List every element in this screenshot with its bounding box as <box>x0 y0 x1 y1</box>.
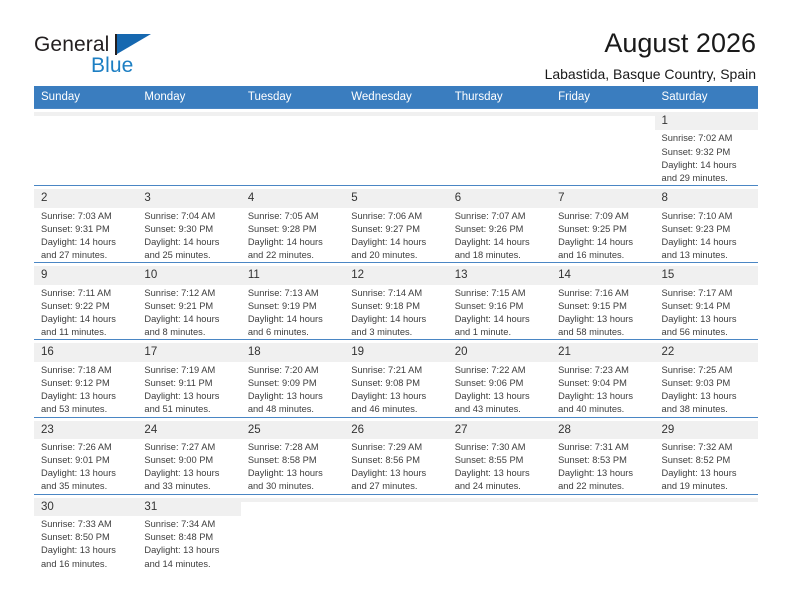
calendar-cell-empty <box>34 109 137 186</box>
sunset-text: Sunset: 9:15 PM <box>558 300 649 313</box>
calendar-cell-empty <box>448 494 551 571</box>
day-cell-inner: 24Sunrise: 7:27 AMSunset: 9:00 PMDayligh… <box>137 418 240 494</box>
day-cell-inner: 8Sunrise: 7:10 AMSunset: 9:23 PMDaylight… <box>655 186 758 262</box>
day-cell-inner <box>344 495 447 571</box>
calendar-cell-empty <box>241 494 344 571</box>
calendar-header-row: Sunday Monday Tuesday Wednesday Thursday… <box>34 86 758 109</box>
sunrise-text: Sunrise: 7:15 AM <box>455 287 546 300</box>
day-cell-inner <box>241 109 344 185</box>
weekday-header-thursday: Thursday <box>448 86 551 109</box>
day-details: Sunrise: 7:11 AMSunset: 9:22 PMDaylight:… <box>41 285 132 340</box>
daylight-text-line2: and 3 minutes. <box>351 326 442 339</box>
daylight-text-line1: Daylight: 13 hours <box>558 467 649 480</box>
day-details: Sunrise: 7:21 AMSunset: 9:08 PMDaylight:… <box>351 362 442 417</box>
calendar-day-cell[interactable]: 8Sunrise: 7:10 AMSunset: 9:23 PMDaylight… <box>655 186 758 263</box>
daylight-text-line2: and 16 minutes. <box>558 249 649 262</box>
daylight-text-line1: Daylight: 13 hours <box>662 390 753 403</box>
daylight-text-line1: Daylight: 14 hours <box>455 236 546 249</box>
calendar-body: 1Sunrise: 7:02 AMSunset: 9:32 PMDaylight… <box>34 109 758 571</box>
day-cell-inner: 9Sunrise: 7:11 AMSunset: 9:22 PMDaylight… <box>34 263 137 339</box>
day-number: 28 <box>551 421 654 439</box>
calendar-day-cell[interactable]: 28Sunrise: 7:31 AMSunset: 8:53 PMDayligh… <box>551 417 654 494</box>
day-details: Sunrise: 7:12 AMSunset: 9:21 PMDaylight:… <box>144 285 235 340</box>
day-number <box>655 498 758 502</box>
calendar-day-cell[interactable]: 20Sunrise: 7:22 AMSunset: 9:06 PMDayligh… <box>448 340 551 417</box>
calendar-cell-empty <box>448 109 551 186</box>
sunrise-text: Sunrise: 7:05 AM <box>248 210 339 223</box>
day-details: Sunrise: 7:09 AMSunset: 9:25 PMDaylight:… <box>558 208 649 263</box>
day-details: Sunrise: 7:19 AMSunset: 9:11 PMDaylight:… <box>144 362 235 417</box>
daylight-text-line1: Daylight: 13 hours <box>41 544 132 557</box>
weekday-header-monday: Monday <box>137 86 240 109</box>
daylight-text-line1: Daylight: 13 hours <box>455 467 546 480</box>
brand-word-blue: Blue <box>91 55 133 76</box>
daylight-text-line2: and 56 minutes. <box>662 326 753 339</box>
day-number: 26 <box>344 421 447 439</box>
daylight-text-line2: and 18 minutes. <box>455 249 546 262</box>
day-number: 23 <box>34 421 137 439</box>
sunset-text: Sunset: 9:23 PM <box>662 223 753 236</box>
daylight-text-line2: and 6 minutes. <box>248 326 339 339</box>
day-cell-inner <box>137 109 240 185</box>
day-cell-inner: 10Sunrise: 7:12 AMSunset: 9:21 PMDayligh… <box>137 263 240 339</box>
day-number: 1 <box>655 112 758 130</box>
day-details: Sunrise: 7:30 AMSunset: 8:55 PMDaylight:… <box>455 439 546 494</box>
calendar-day-cell[interactable]: 29Sunrise: 7:32 AMSunset: 8:52 PMDayligh… <box>655 417 758 494</box>
daylight-text-line1: Daylight: 14 hours <box>248 236 339 249</box>
sunset-text: Sunset: 9:31 PM <box>41 223 132 236</box>
day-cell-inner <box>448 495 551 571</box>
daylight-text-line2: and 43 minutes. <box>455 403 546 416</box>
day-cell-inner: 31Sunrise: 7:34 AMSunset: 8:48 PMDayligh… <box>137 495 240 571</box>
day-details: Sunrise: 7:07 AMSunset: 9:26 PMDaylight:… <box>455 208 546 263</box>
daylight-text-line2: and 53 minutes. <box>41 403 132 416</box>
sunset-text: Sunset: 9:08 PM <box>351 377 442 390</box>
sunset-text: Sunset: 8:53 PM <box>558 454 649 467</box>
calendar-cell-empty <box>551 109 654 186</box>
sunset-text: Sunset: 9:21 PM <box>144 300 235 313</box>
weekday-header-friday: Friday <box>551 86 654 109</box>
calendar-day-cell[interactable]: 11Sunrise: 7:13 AMSunset: 9:19 PMDayligh… <box>241 263 344 340</box>
day-cell-inner: 27Sunrise: 7:30 AMSunset: 8:55 PMDayligh… <box>448 418 551 494</box>
day-details: Sunrise: 7:34 AMSunset: 8:48 PMDaylight:… <box>144 516 235 571</box>
day-number <box>448 112 551 116</box>
sunset-text: Sunset: 9:28 PM <box>248 223 339 236</box>
sunset-text: Sunset: 8:48 PM <box>144 531 235 544</box>
day-number <box>137 112 240 116</box>
day-details: Sunrise: 7:04 AMSunset: 9:30 PMDaylight:… <box>144 208 235 263</box>
daylight-text-line1: Daylight: 14 hours <box>41 236 132 249</box>
day-cell-inner: 20Sunrise: 7:22 AMSunset: 9:06 PMDayligh… <box>448 340 551 416</box>
daylight-text-line2: and 58 minutes. <box>558 326 649 339</box>
day-cell-inner: 25Sunrise: 7:28 AMSunset: 8:58 PMDayligh… <box>241 418 344 494</box>
day-details: Sunrise: 7:13 AMSunset: 9:19 PMDaylight:… <box>248 285 339 340</box>
calendar-day-cell[interactable]: 25Sunrise: 7:28 AMSunset: 8:58 PMDayligh… <box>241 417 344 494</box>
daylight-text-line1: Daylight: 13 hours <box>248 467 339 480</box>
sunrise-text: Sunrise: 7:33 AM <box>41 518 132 531</box>
sunrise-text: Sunrise: 7:18 AM <box>41 364 132 377</box>
calendar-day-cell[interactable]: 13Sunrise: 7:15 AMSunset: 9:16 PMDayligh… <box>448 263 551 340</box>
day-details: Sunrise: 7:03 AMSunset: 9:31 PMDaylight:… <box>41 208 132 263</box>
calendar-day-cell[interactable]: 3Sunrise: 7:04 AMSunset: 9:30 PMDaylight… <box>137 186 240 263</box>
daylight-text-line2: and 25 minutes. <box>144 249 235 262</box>
weekday-header-sunday: Sunday <box>34 86 137 109</box>
daylight-text-line2: and 1 minute. <box>455 326 546 339</box>
sunset-text: Sunset: 9:14 PM <box>662 300 753 313</box>
calendar-day-cell[interactable]: 6Sunrise: 7:07 AMSunset: 9:26 PMDaylight… <box>448 186 551 263</box>
daylight-text-line1: Daylight: 14 hours <box>662 159 753 172</box>
daylight-text-line2: and 51 minutes. <box>144 403 235 416</box>
sunset-text: Sunset: 8:52 PM <box>662 454 753 467</box>
day-number: 29 <box>655 421 758 439</box>
day-cell-inner: 2Sunrise: 7:03 AMSunset: 9:31 PMDaylight… <box>34 186 137 262</box>
daylight-text-line2: and 8 minutes. <box>144 326 235 339</box>
daylight-text-line1: Daylight: 13 hours <box>351 390 442 403</box>
sunrise-text: Sunrise: 7:03 AM <box>41 210 132 223</box>
day-number <box>241 112 344 116</box>
daylight-text-line1: Daylight: 13 hours <box>144 390 235 403</box>
daylight-text-line1: Daylight: 13 hours <box>144 467 235 480</box>
calendar-week-row: 9Sunrise: 7:11 AMSunset: 9:22 PMDaylight… <box>34 263 758 340</box>
day-number <box>448 498 551 502</box>
day-cell-inner: 7Sunrise: 7:09 AMSunset: 9:25 PMDaylight… <box>551 186 654 262</box>
day-number: 3 <box>137 189 240 207</box>
calendar-week-row: 30Sunrise: 7:33 AMSunset: 8:50 PMDayligh… <box>34 494 758 571</box>
day-cell-inner: 23Sunrise: 7:26 AMSunset: 9:01 PMDayligh… <box>34 418 137 494</box>
sunset-text: Sunset: 9:27 PM <box>351 223 442 236</box>
sunrise-text: Sunrise: 7:26 AM <box>41 441 132 454</box>
calendar-cell-empty <box>655 494 758 571</box>
daylight-text-line2: and 20 minutes. <box>351 249 442 262</box>
daylight-text-line2: and 22 minutes. <box>558 480 649 493</box>
day-details: Sunrise: 7:18 AMSunset: 9:12 PMDaylight:… <box>41 362 132 417</box>
day-number: 17 <box>137 343 240 361</box>
day-number: 22 <box>655 343 758 361</box>
day-details: Sunrise: 7:33 AMSunset: 8:50 PMDaylight:… <box>41 516 132 571</box>
sunset-text: Sunset: 8:55 PM <box>455 454 546 467</box>
day-number: 14 <box>551 266 654 284</box>
sunset-text: Sunset: 9:12 PM <box>41 377 132 390</box>
day-cell-inner: 13Sunrise: 7:15 AMSunset: 9:16 PMDayligh… <box>448 263 551 339</box>
day-details: Sunrise: 7:22 AMSunset: 9:06 PMDaylight:… <box>455 362 546 417</box>
calendar-week-row: 1Sunrise: 7:02 AMSunset: 9:32 PMDaylight… <box>34 109 758 186</box>
calendar-day-cell[interactable]: 30Sunrise: 7:33 AMSunset: 8:50 PMDayligh… <box>34 494 137 571</box>
calendar-day-cell[interactable]: 15Sunrise: 7:17 AMSunset: 9:14 PMDayligh… <box>655 263 758 340</box>
daylight-text-line1: Daylight: 13 hours <box>662 313 753 326</box>
day-number: 10 <box>137 266 240 284</box>
sunrise-text: Sunrise: 7:11 AM <box>41 287 132 300</box>
day-number: 20 <box>448 343 551 361</box>
day-number: 19 <box>344 343 447 361</box>
calendar-day-cell[interactable]: 5Sunrise: 7:06 AMSunset: 9:27 PMDaylight… <box>344 186 447 263</box>
calendar-week-row: 23Sunrise: 7:26 AMSunset: 9:01 PMDayligh… <box>34 417 758 494</box>
sunrise-text: Sunrise: 7:09 AM <box>558 210 649 223</box>
calendar-day-cell[interactable]: 26Sunrise: 7:29 AMSunset: 8:56 PMDayligh… <box>344 417 447 494</box>
day-cell-inner <box>241 495 344 571</box>
day-number <box>551 112 654 116</box>
day-cell-inner <box>448 109 551 185</box>
day-cell-inner: 12Sunrise: 7:14 AMSunset: 9:18 PMDayligh… <box>344 263 447 339</box>
sunrise-text: Sunrise: 7:22 AM <box>455 364 546 377</box>
calendar-week-row: 2Sunrise: 7:03 AMSunset: 9:31 PMDaylight… <box>34 186 758 263</box>
day-number: 27 <box>448 421 551 439</box>
sunset-text: Sunset: 9:01 PM <box>41 454 132 467</box>
day-cell-inner: 4Sunrise: 7:05 AMSunset: 9:28 PMDaylight… <box>241 186 344 262</box>
calendar-cell-empty <box>551 494 654 571</box>
sunrise-text: Sunrise: 7:19 AM <box>144 364 235 377</box>
daylight-text-line1: Daylight: 14 hours <box>41 313 132 326</box>
day-cell-inner: 18Sunrise: 7:20 AMSunset: 9:09 PMDayligh… <box>241 340 344 416</box>
day-details: Sunrise: 7:26 AMSunset: 9:01 PMDaylight:… <box>41 439 132 494</box>
sunrise-text: Sunrise: 7:12 AM <box>144 287 235 300</box>
sunrise-text: Sunrise: 7:28 AM <box>248 441 339 454</box>
day-details: Sunrise: 7:32 AMSunset: 8:52 PMDaylight:… <box>662 439 753 494</box>
daylight-text-line1: Daylight: 13 hours <box>558 313 649 326</box>
day-number: 12 <box>344 266 447 284</box>
day-number <box>551 498 654 502</box>
day-number: 13 <box>448 266 551 284</box>
general-blue-logo: General Blue <box>34 28 204 76</box>
daylight-text-line2: and 29 minutes. <box>662 172 753 185</box>
sunrise-text: Sunrise: 7:30 AM <box>455 441 546 454</box>
daylight-text-line2: and 35 minutes. <box>41 480 132 493</box>
day-cell-inner: 21Sunrise: 7:23 AMSunset: 9:04 PMDayligh… <box>551 340 654 416</box>
daylight-text-line2: and 13 minutes. <box>662 249 753 262</box>
day-cell-inner <box>551 495 654 571</box>
daylight-text-line2: and 46 minutes. <box>351 403 442 416</box>
triangle-logo-icon <box>117 34 151 54</box>
day-cell-inner: 22Sunrise: 7:25 AMSunset: 9:03 PMDayligh… <box>655 340 758 416</box>
sunset-text: Sunset: 8:50 PM <box>41 531 132 544</box>
day-number <box>241 498 344 502</box>
calendar-day-cell[interactable]: 31Sunrise: 7:34 AMSunset: 8:48 PMDayligh… <box>137 494 240 571</box>
day-details: Sunrise: 7:16 AMSunset: 9:15 PMDaylight:… <box>558 285 649 340</box>
daylight-text-line2: and 14 minutes. <box>144 558 235 571</box>
day-number: 16 <box>34 343 137 361</box>
day-number: 30 <box>34 498 137 516</box>
day-cell-inner: 1Sunrise: 7:02 AMSunset: 9:32 PMDaylight… <box>655 109 758 185</box>
daylight-text-line1: Daylight: 14 hours <box>662 236 753 249</box>
calendar-day-cell[interactable]: 16Sunrise: 7:18 AMSunset: 9:12 PMDayligh… <box>34 340 137 417</box>
day-cell-inner: 6Sunrise: 7:07 AMSunset: 9:26 PMDaylight… <box>448 186 551 262</box>
day-number <box>34 112 137 116</box>
daylight-text-line1: Daylight: 13 hours <box>144 544 235 557</box>
daylight-text-line1: Daylight: 14 hours <box>351 313 442 326</box>
calendar-day-cell[interactable]: 19Sunrise: 7:21 AMSunset: 9:08 PMDayligh… <box>344 340 447 417</box>
page-subtitle: Labastida, Basque Country, Spain <box>545 66 756 82</box>
page-title: August 2026 <box>545 28 756 58</box>
sunset-text: Sunset: 9:16 PM <box>455 300 546 313</box>
day-number: 8 <box>655 189 758 207</box>
calendar-day-cell[interactable]: 22Sunrise: 7:25 AMSunset: 9:03 PMDayligh… <box>655 340 758 417</box>
sunrise-text: Sunrise: 7:29 AM <box>351 441 442 454</box>
weekday-header-wednesday: Wednesday <box>344 86 447 109</box>
daylight-text-line2: and 22 minutes. <box>248 249 339 262</box>
sunrise-text: Sunrise: 7:32 AM <box>662 441 753 454</box>
calendar-day-cell[interactable]: 21Sunrise: 7:23 AMSunset: 9:04 PMDayligh… <box>551 340 654 417</box>
day-details: Sunrise: 7:23 AMSunset: 9:04 PMDaylight:… <box>558 362 649 417</box>
calendar-day-cell[interactable]: 14Sunrise: 7:16 AMSunset: 9:15 PMDayligh… <box>551 263 654 340</box>
daylight-text-line1: Daylight: 13 hours <box>248 390 339 403</box>
sunset-text: Sunset: 9:32 PM <box>662 146 753 159</box>
day-number: 5 <box>344 189 447 207</box>
day-cell-inner: 16Sunrise: 7:18 AMSunset: 9:12 PMDayligh… <box>34 340 137 416</box>
day-number: 24 <box>137 421 240 439</box>
calendar-day-cell[interactable]: 12Sunrise: 7:14 AMSunset: 9:18 PMDayligh… <box>344 263 447 340</box>
sunset-text: Sunset: 9:25 PM <box>558 223 649 236</box>
daylight-text-line2: and 24 minutes. <box>455 480 546 493</box>
sunrise-text: Sunrise: 7:17 AM <box>662 287 753 300</box>
day-cell-inner: 5Sunrise: 7:06 AMSunset: 9:27 PMDaylight… <box>344 186 447 262</box>
sunrise-text: Sunrise: 7:16 AM <box>558 287 649 300</box>
daylight-text-line1: Daylight: 13 hours <box>455 390 546 403</box>
brand-word-general: General <box>34 34 109 55</box>
day-cell-inner: 29Sunrise: 7:32 AMSunset: 8:52 PMDayligh… <box>655 418 758 494</box>
day-details: Sunrise: 7:06 AMSunset: 9:27 PMDaylight:… <box>351 208 442 263</box>
day-number: 25 <box>241 421 344 439</box>
sunrise-text: Sunrise: 7:10 AM <box>662 210 753 223</box>
daylight-text-line1: Daylight: 14 hours <box>144 236 235 249</box>
sunset-text: Sunset: 9:18 PM <box>351 300 442 313</box>
day-details: Sunrise: 7:10 AMSunset: 9:23 PMDaylight:… <box>662 208 753 263</box>
daylight-text-line2: and 19 minutes. <box>662 480 753 493</box>
day-number <box>344 112 447 116</box>
sunset-text: Sunset: 8:56 PM <box>351 454 442 467</box>
day-cell-inner: 19Sunrise: 7:21 AMSunset: 9:08 PMDayligh… <box>344 340 447 416</box>
calendar-day-cell[interactable]: 9Sunrise: 7:11 AMSunset: 9:22 PMDaylight… <box>34 263 137 340</box>
sunset-text: Sunset: 9:06 PM <box>455 377 546 390</box>
day-number: 7 <box>551 189 654 207</box>
daylight-text-line2: and 30 minutes. <box>248 480 339 493</box>
daylight-text-line2: and 38 minutes. <box>662 403 753 416</box>
day-number: 9 <box>34 266 137 284</box>
day-cell-inner: 11Sunrise: 7:13 AMSunset: 9:19 PMDayligh… <box>241 263 344 339</box>
sunrise-text: Sunrise: 7:31 AM <box>558 441 649 454</box>
daylight-text-line2: and 27 minutes. <box>351 480 442 493</box>
sunrise-text: Sunrise: 7:06 AM <box>351 210 442 223</box>
day-cell-inner: 3Sunrise: 7:04 AMSunset: 9:30 PMDaylight… <box>137 186 240 262</box>
calendar-cell-empty <box>241 109 344 186</box>
calendar-day-cell[interactable]: 10Sunrise: 7:12 AMSunset: 9:21 PMDayligh… <box>137 263 240 340</box>
day-details: Sunrise: 7:02 AMSunset: 9:32 PMDaylight:… <box>662 130 753 185</box>
day-cell-inner <box>551 109 654 185</box>
calendar-day-cell[interactable]: 7Sunrise: 7:09 AMSunset: 9:25 PMDaylight… <box>551 186 654 263</box>
sunrise-text: Sunrise: 7:04 AM <box>144 210 235 223</box>
day-number: 15 <box>655 266 758 284</box>
calendar-day-cell[interactable]: 18Sunrise: 7:20 AMSunset: 9:09 PMDayligh… <box>241 340 344 417</box>
day-cell-inner <box>655 495 758 571</box>
sunrise-text: Sunrise: 7:02 AM <box>662 132 753 145</box>
sunset-text: Sunset: 9:19 PM <box>248 300 339 313</box>
day-number: 31 <box>137 498 240 516</box>
day-cell-inner: 14Sunrise: 7:16 AMSunset: 9:15 PMDayligh… <box>551 263 654 339</box>
day-cell-inner <box>34 109 137 185</box>
calendar-day-cell[interactable]: 23Sunrise: 7:26 AMSunset: 9:01 PMDayligh… <box>34 417 137 494</box>
sunrise-text: Sunrise: 7:27 AM <box>144 441 235 454</box>
daylight-text-line1: Daylight: 14 hours <box>248 313 339 326</box>
daylight-text-line1: Daylight: 13 hours <box>662 467 753 480</box>
day-cell-inner: 15Sunrise: 7:17 AMSunset: 9:14 PMDayligh… <box>655 263 758 339</box>
daylight-text-line2: and 27 minutes. <box>41 249 132 262</box>
calendar-cell-empty <box>344 109 447 186</box>
sunrise-text: Sunrise: 7:13 AM <box>248 287 339 300</box>
daylight-text-line2: and 40 minutes. <box>558 403 649 416</box>
sunset-text: Sunset: 9:11 PM <box>144 377 235 390</box>
daylight-text-line2: and 33 minutes. <box>144 480 235 493</box>
sunrise-text: Sunrise: 7:21 AM <box>351 364 442 377</box>
sunrise-text: Sunrise: 7:07 AM <box>455 210 546 223</box>
daylight-text-line1: Daylight: 14 hours <box>351 236 442 249</box>
sunrise-text: Sunrise: 7:34 AM <box>144 518 235 531</box>
daylight-text-line1: Daylight: 13 hours <box>351 467 442 480</box>
daylight-text-line2: and 16 minutes. <box>41 558 132 571</box>
daylight-text-line1: Daylight: 14 hours <box>558 236 649 249</box>
day-details: Sunrise: 7:14 AMSunset: 9:18 PMDaylight:… <box>351 285 442 340</box>
page-header: General Blue August 2026 Labastida, Basq… <box>0 0 792 74</box>
day-details: Sunrise: 7:28 AMSunset: 8:58 PMDaylight:… <box>248 439 339 494</box>
calendar-cell-empty <box>137 109 240 186</box>
sunset-text: Sunset: 8:58 PM <box>248 454 339 467</box>
day-number: 6 <box>448 189 551 207</box>
day-details: Sunrise: 7:31 AMSunset: 8:53 PMDaylight:… <box>558 439 649 494</box>
day-number: 11 <box>241 266 344 284</box>
title-block: August 2026 Labastida, Basque Country, S… <box>545 28 756 82</box>
day-cell-inner: 17Sunrise: 7:19 AMSunset: 9:11 PMDayligh… <box>137 340 240 416</box>
sunset-text: Sunset: 9:03 PM <box>662 377 753 390</box>
calendar-day-cell[interactable]: 1Sunrise: 7:02 AMSunset: 9:32 PMDaylight… <box>655 109 758 186</box>
day-details: Sunrise: 7:15 AMSunset: 9:16 PMDaylight:… <box>455 285 546 340</box>
sunrise-text: Sunrise: 7:20 AM <box>248 364 339 377</box>
sunset-text: Sunset: 9:30 PM <box>144 223 235 236</box>
weekday-header-tuesday: Tuesday <box>241 86 344 109</box>
calendar-page: General Blue August 2026 Labastida, Basq… <box>0 0 792 612</box>
daylight-text-line2: and 11 minutes. <box>41 326 132 339</box>
calendar-cell-empty <box>344 494 447 571</box>
day-cell-inner: 28Sunrise: 7:31 AMSunset: 8:53 PMDayligh… <box>551 418 654 494</box>
day-cell-inner: 26Sunrise: 7:29 AMSunset: 8:56 PMDayligh… <box>344 418 447 494</box>
day-details: Sunrise: 7:25 AMSunset: 9:03 PMDaylight:… <box>662 362 753 417</box>
calendar-day-cell[interactable]: 24Sunrise: 7:27 AMSunset: 9:00 PMDayligh… <box>137 417 240 494</box>
sunset-text: Sunset: 9:00 PM <box>144 454 235 467</box>
sunset-text: Sunset: 9:26 PM <box>455 223 546 236</box>
daylight-text-line1: Daylight: 13 hours <box>41 467 132 480</box>
day-number: 2 <box>34 189 137 207</box>
calendar-day-cell[interactable]: 17Sunrise: 7:19 AMSunset: 9:11 PMDayligh… <box>137 340 240 417</box>
day-number: 21 <box>551 343 654 361</box>
daylight-text-line1: Daylight: 13 hours <box>558 390 649 403</box>
daylight-text-line2: and 48 minutes. <box>248 403 339 416</box>
day-details: Sunrise: 7:27 AMSunset: 9:00 PMDaylight:… <box>144 439 235 494</box>
calendar-day-cell[interactable]: 2Sunrise: 7:03 AMSunset: 9:31 PMDaylight… <box>34 186 137 263</box>
day-details: Sunrise: 7:05 AMSunset: 9:28 PMDaylight:… <box>248 208 339 263</box>
daylight-text-line1: Daylight: 14 hours <box>455 313 546 326</box>
day-number: 4 <box>241 189 344 207</box>
sunrise-text: Sunrise: 7:14 AM <box>351 287 442 300</box>
sunrise-text: Sunrise: 7:25 AM <box>662 364 753 377</box>
daylight-text-line1: Daylight: 13 hours <box>41 390 132 403</box>
day-details: Sunrise: 7:17 AMSunset: 9:14 PMDaylight:… <box>662 285 753 340</box>
sunset-text: Sunset: 9:22 PM <box>41 300 132 313</box>
sunrise-text: Sunrise: 7:23 AM <box>558 364 649 377</box>
sunset-text: Sunset: 9:04 PM <box>558 377 649 390</box>
calendar-day-cell[interactable]: 27Sunrise: 7:30 AMSunset: 8:55 PMDayligh… <box>448 417 551 494</box>
calendar-day-cell[interactable]: 4Sunrise: 7:05 AMSunset: 9:28 PMDaylight… <box>241 186 344 263</box>
sunset-text: Sunset: 9:09 PM <box>248 377 339 390</box>
sunrise-sunset-calendar: Sunday Monday Tuesday Wednesday Thursday… <box>34 86 758 571</box>
calendar-week-row: 16Sunrise: 7:18 AMSunset: 9:12 PMDayligh… <box>34 340 758 417</box>
day-number <box>344 498 447 502</box>
day-cell-inner: 30Sunrise: 7:33 AMSunset: 8:50 PMDayligh… <box>34 495 137 571</box>
